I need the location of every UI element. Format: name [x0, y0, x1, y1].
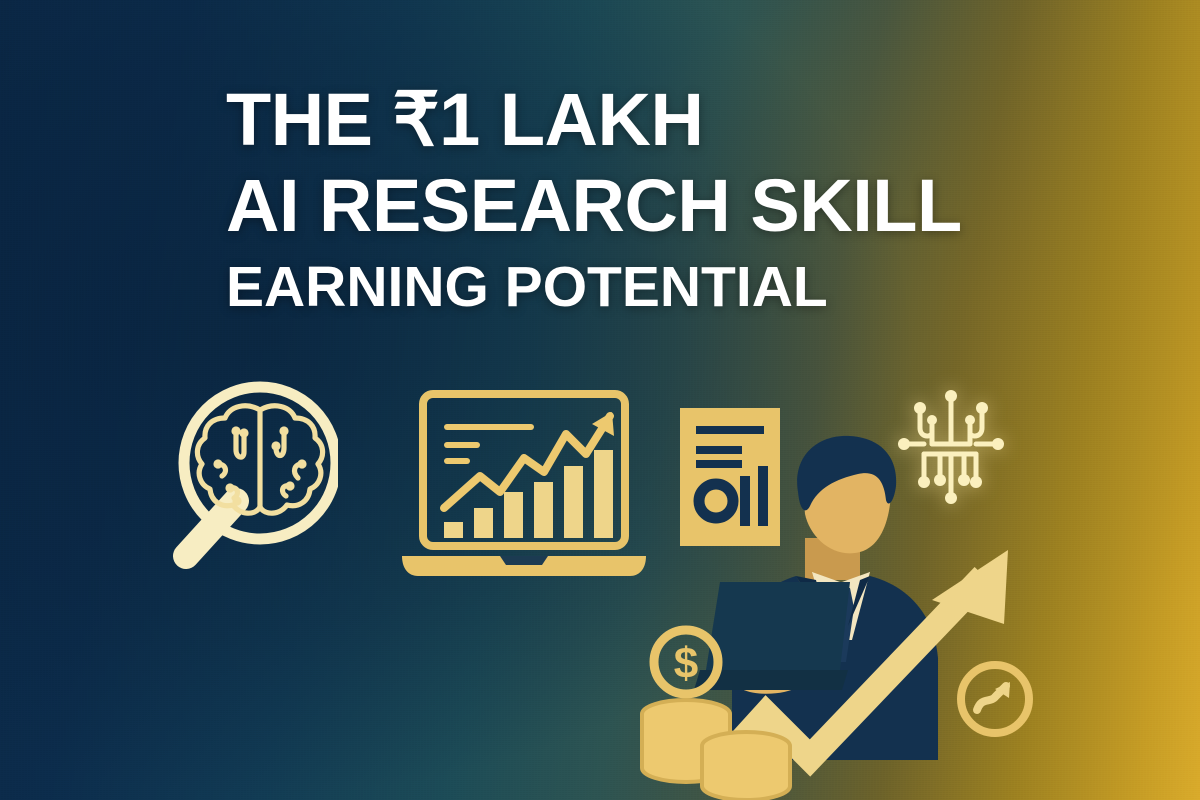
- headline-line-1: THE ₹1 LAKH: [226, 84, 1026, 156]
- headline-line-2: AI RESEARCH SKILL: [226, 170, 1026, 242]
- brain-circuit-icon: [197, 406, 322, 513]
- laptop-notch-icon: [500, 556, 548, 565]
- svg-text:$: $: [674, 639, 698, 688]
- coin-stack-icon: $: [630, 620, 810, 800]
- headline-line-3: EARNING POTENTIAL: [226, 260, 1026, 315]
- poster-canvas: THE ₹1 LAKH AI RESEARCH SKILL EARNING PO…: [0, 0, 1200, 800]
- page-title: THE ₹1 LAKH AI RESEARCH SKILL EARNING PO…: [226, 84, 1026, 315]
- coin-stack-right-icon: [702, 732, 790, 800]
- magnifier-brain-icon: [108, 368, 338, 593]
- brain-circuit-right-traces-icon: [276, 432, 302, 496]
- laptop-chart-icon: [396, 388, 652, 589]
- trend-badge-icon: [952, 656, 1038, 747]
- dollar-coin-icon: $: [654, 630, 718, 694]
